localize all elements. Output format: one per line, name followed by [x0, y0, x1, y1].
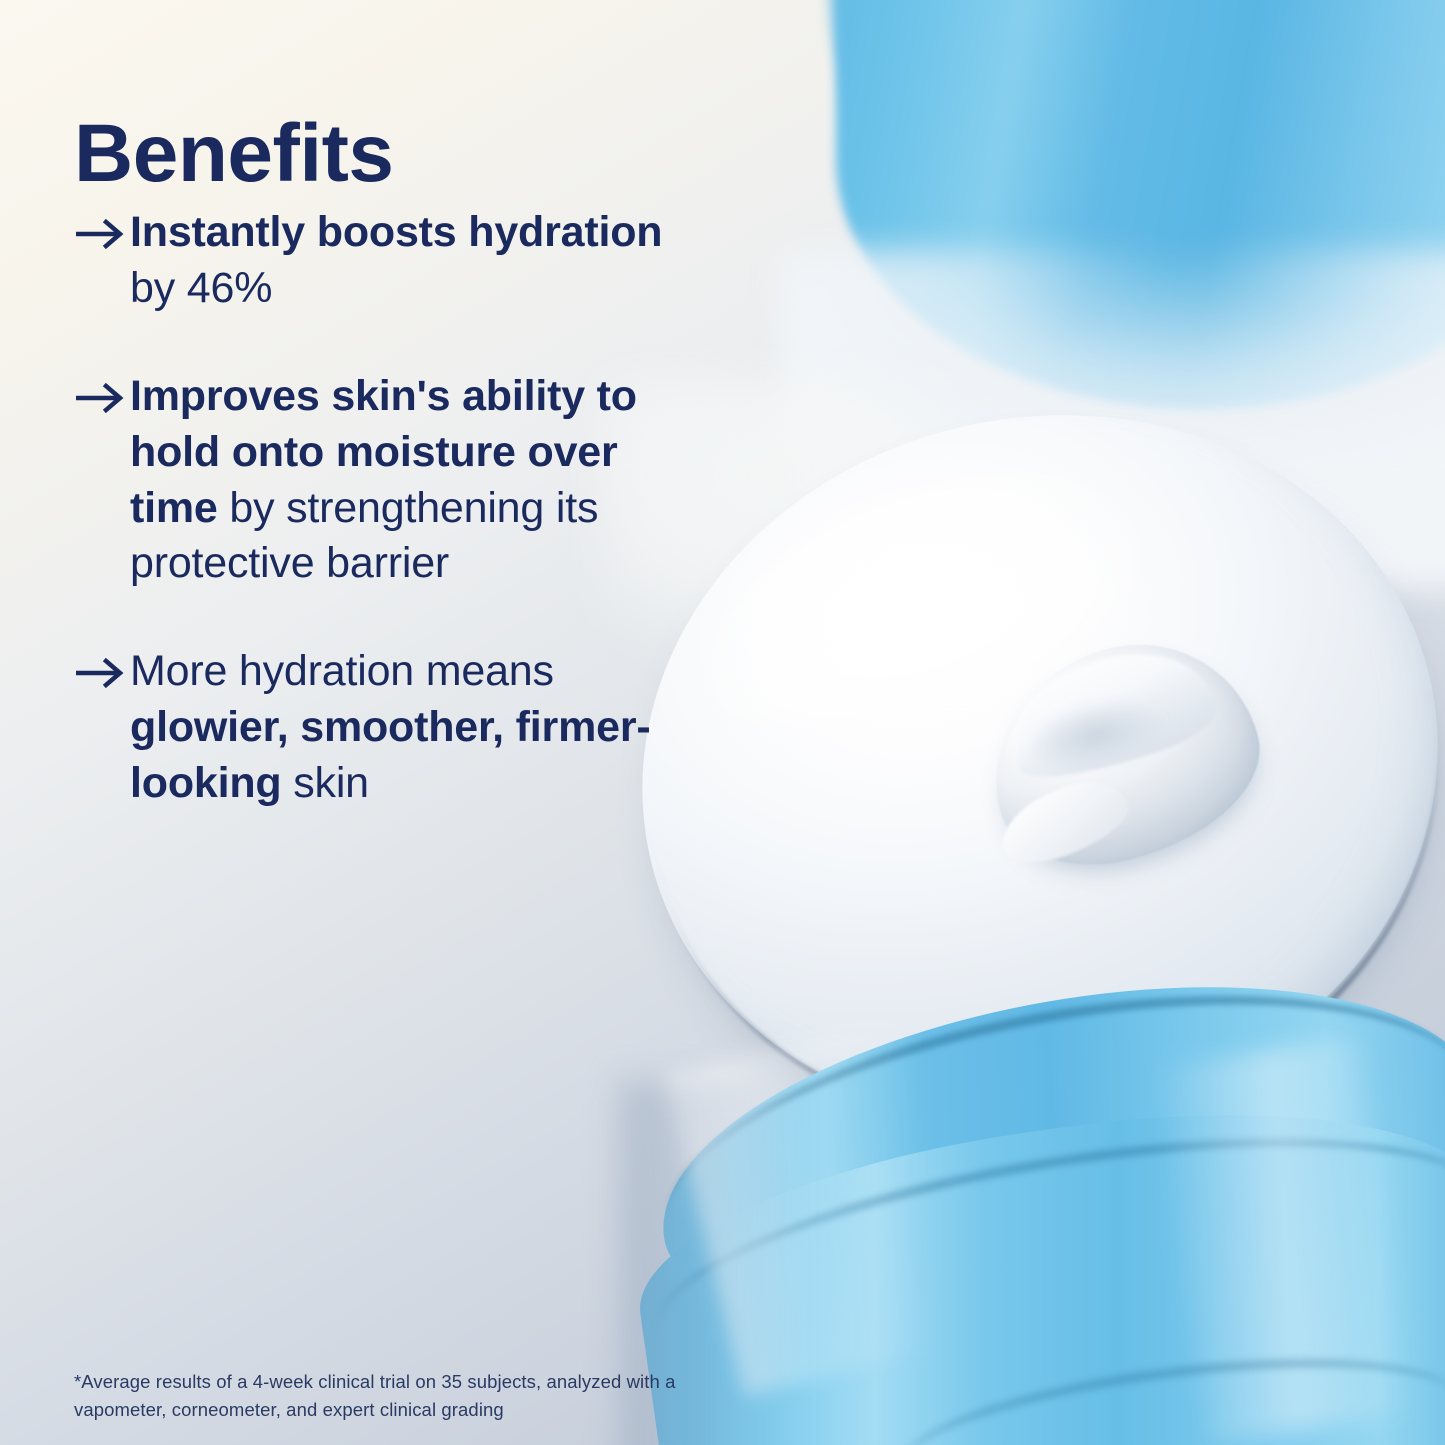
- benefit-text-2: Improves skin's ability to hold onto moi…: [130, 369, 714, 593]
- cream-dollop-tail: [991, 768, 1137, 877]
- cream-dollop-peak: [998, 634, 1224, 790]
- arrow-right-icon: [74, 383, 130, 413]
- blue-jar-body-groove: [640, 1091, 1445, 1439]
- benefit-3-regular-tail: skin: [281, 759, 368, 807]
- page-title: Benefits: [74, 113, 394, 195]
- footnote-disclaimer: *Average results of a 4-week clinical tr…: [74, 1368, 724, 1424]
- benefit-item-2: Improves skin's ability to hold onto moi…: [74, 369, 714, 593]
- benefits-list: Instantly boosts hydration by 46% Improv…: [74, 205, 714, 812]
- benefit-item-3: More hydration means glowier, smoother, …: [74, 644, 714, 812]
- text-column: Benefits Instantly boosts hydration by 4…: [0, 0, 760, 1445]
- benefit-text-3: More hydration means glowier, smoother, …: [130, 644, 714, 812]
- benefit-item-1: Instantly boosts hydration by 46%: [74, 205, 714, 317]
- jar-gloss-right: [1152, 1036, 1419, 1444]
- blue-jar-rim-groove: [641, 941, 1445, 1375]
- benefit-text-1: Instantly boosts hydration by 46%: [130, 205, 714, 317]
- jar-cap-blur-fade: [780, 250, 1445, 590]
- arrow-right-icon: [74, 219, 130, 249]
- cream-dollop-swirl: [1024, 685, 1187, 792]
- arrow-right-icon: [74, 658, 130, 688]
- jar-bottom-edge: [894, 1334, 1445, 1445]
- benefit-1-bold: Instantly boosts hydration: [130, 208, 662, 256]
- benefit-1-regular: by 46%: [130, 264, 272, 312]
- benefit-3-bold: glowier, smoother, firmer-looking: [130, 703, 650, 807]
- benefits-product-card: Benefits Instantly boosts hydration by 4…: [0, 0, 1445, 1445]
- blurred-jar-cap-icon: [830, 0, 1445, 310]
- benefit-3-regular-lead: More hydration means: [130, 647, 554, 695]
- cream-dollop: [969, 619, 1280, 888]
- jar-cap-seam: [838, 0, 1445, 345]
- jar-cap-side: [836, 0, 1445, 410]
